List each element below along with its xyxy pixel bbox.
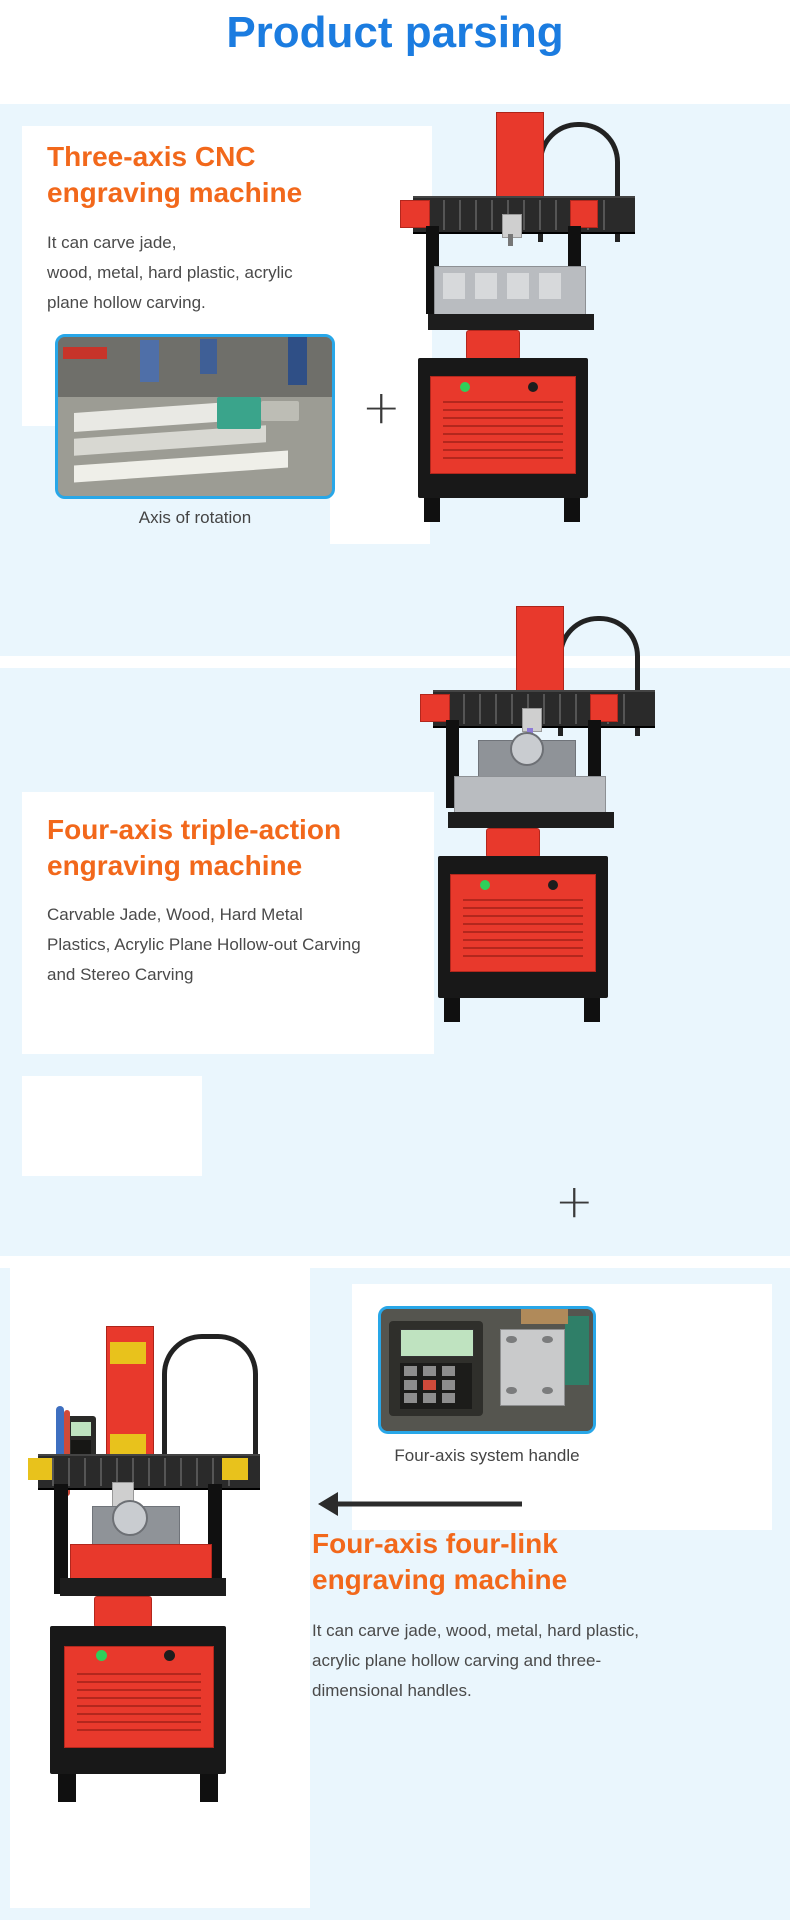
left-rail-cap (28, 1458, 52, 1480)
section2-body-line3: and Stereo Carving (47, 960, 437, 990)
right-gantry-cap (570, 200, 598, 228)
power-indicator-green (460, 382, 470, 392)
section1-plus-icon: + (362, 384, 401, 430)
y-axis-drawer (94, 1596, 152, 1628)
section2-body-line1: Carvable Jade, Wood, Hard Metal (47, 900, 437, 930)
section1-body-line2: wood, metal, hard plastic, acrylic (47, 258, 407, 288)
section3-body-line2: acrylic plane hollow carving and three- (312, 1646, 742, 1676)
y-axis-bed (428, 314, 594, 330)
four-axis-system-handle-photo (378, 1306, 596, 1434)
rotary-axis-photo (55, 334, 335, 499)
cabinet-door (64, 1646, 214, 1748)
right-gantry-cap (590, 694, 618, 722)
section1-heading-line2: engraving machine (47, 175, 407, 211)
section-three-axis: Three-axis CNC engraving machine It can … (0, 104, 790, 656)
left-gantry-cap (400, 200, 430, 228)
section2-side-card (22, 1076, 202, 1176)
three-axis-machine-illustration (418, 104, 678, 544)
product-parsing-page: Product parsing Three-axis CNC engraving… (0, 0, 790, 1920)
section1-photo-card (330, 344, 430, 544)
rotary-chuck (112, 1500, 148, 1536)
cabinet-foot-right (584, 998, 600, 1022)
left-arrow-icon (316, 1484, 526, 1524)
section-four-axis-triple: Four-axis triple-action engraving machin… (0, 668, 790, 1256)
work-table (434, 266, 586, 318)
right-rail-cap (222, 1458, 248, 1480)
cutting-tool (508, 234, 513, 246)
warning-label-top (110, 1342, 146, 1364)
section3-photo-caption: Four-axis system handle (378, 1446, 596, 1466)
four-axis-triple-machine-illustration (438, 598, 698, 1058)
section2-heading-line2: engraving machine (47, 848, 427, 884)
cabinet-foot-left (58, 1774, 76, 1802)
page-title: Product parsing (0, 8, 790, 58)
y-axis-drawer (486, 828, 540, 858)
section1-body-line1: It can carve jade, (47, 228, 407, 258)
left-gantry-cap (420, 694, 450, 722)
section1-body-line3: plane hollow carving. (47, 288, 407, 318)
section1-photo-caption: Axis of rotation (55, 508, 335, 528)
x-axis-rail (433, 690, 655, 728)
x-axis-rail (413, 196, 635, 234)
cabinet-door (430, 376, 576, 474)
section3-heading-line1: Four-axis four-link (312, 1526, 732, 1562)
power-indicator-dark (528, 382, 538, 392)
work-tray (70, 1544, 212, 1580)
y-axis-bed (60, 1578, 226, 1596)
power-indicator-green (480, 880, 490, 890)
section3-body-line1: It can carve jade, wood, metal, hard pla… (312, 1616, 742, 1646)
power-indicator-green (96, 1650, 107, 1661)
page-title-bar: Product parsing (0, 0, 790, 104)
cabinet-foot-left (424, 498, 440, 522)
section1-heading-line1: Three-axis CNC (47, 139, 407, 175)
section2-heading-line1: Four-axis triple-action (47, 812, 427, 848)
y-axis-drawer (466, 330, 520, 360)
section2-body-line2: Plastics, Acrylic Plane Hollow-out Carvi… (47, 930, 437, 960)
power-indicator-dark (548, 880, 558, 890)
section2-plus-icon: + (555, 1178, 594, 1224)
work-table (454, 776, 606, 814)
pendant-screen (71, 1422, 91, 1436)
cabinet-door (450, 874, 596, 972)
cabinet-foot-right (564, 498, 580, 522)
section-four-axis-four-link: Four-axis system handle Four-axis four-l… (0, 1268, 790, 1920)
section3-heading-line2: engraving machine (312, 1562, 732, 1598)
controller-screen (400, 1329, 474, 1358)
cable-carrier (162, 1334, 258, 1474)
power-indicator-dark (164, 1650, 175, 1661)
section3-body-line3: dimensional handles. (312, 1676, 742, 1706)
cabinet-foot-right (200, 1774, 218, 1802)
y-axis-bed (448, 812, 614, 828)
cabinet-foot-left (444, 998, 460, 1022)
four-axis-four-link-machine-illustration (50, 1306, 310, 1866)
rotary-chuck (510, 732, 544, 766)
